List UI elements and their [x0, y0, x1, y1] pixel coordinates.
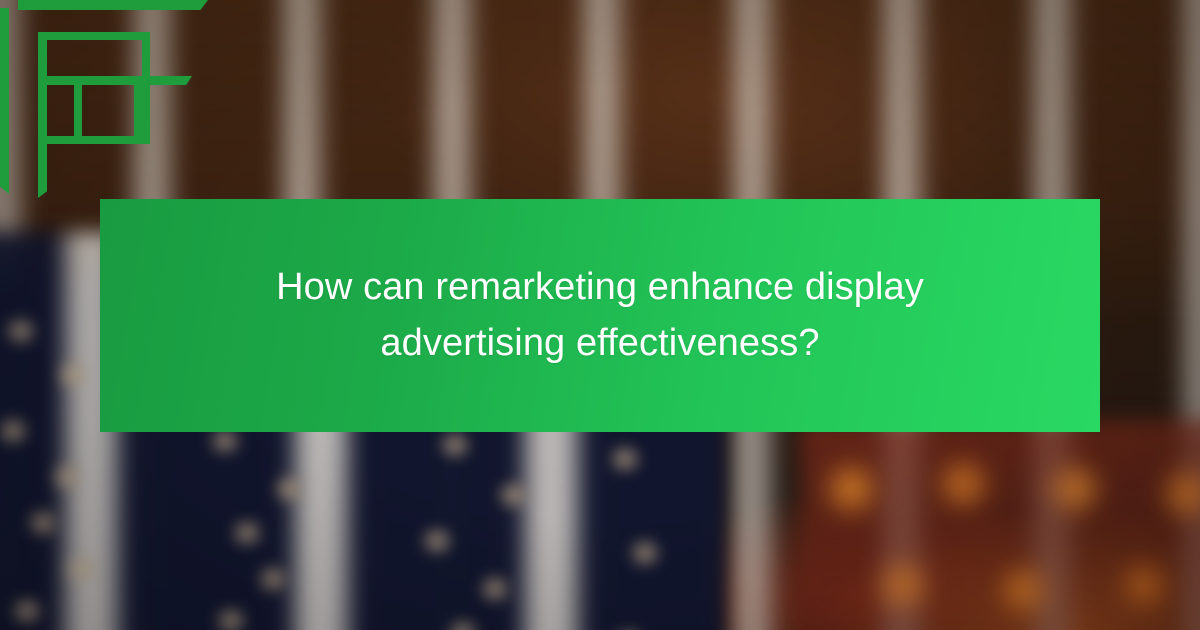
frame-square-inner — [74, 76, 142, 144]
headline-banner: How can remarketing enhance display adve… — [100, 199, 1100, 432]
frame-line-left-outer — [0, 8, 9, 194]
social-card: How can remarketing enhance display adve… — [0, 0, 1200, 630]
frame-line-top — [18, 0, 208, 10]
page-title: How can remarketing enhance display adve… — [250, 260, 950, 370]
